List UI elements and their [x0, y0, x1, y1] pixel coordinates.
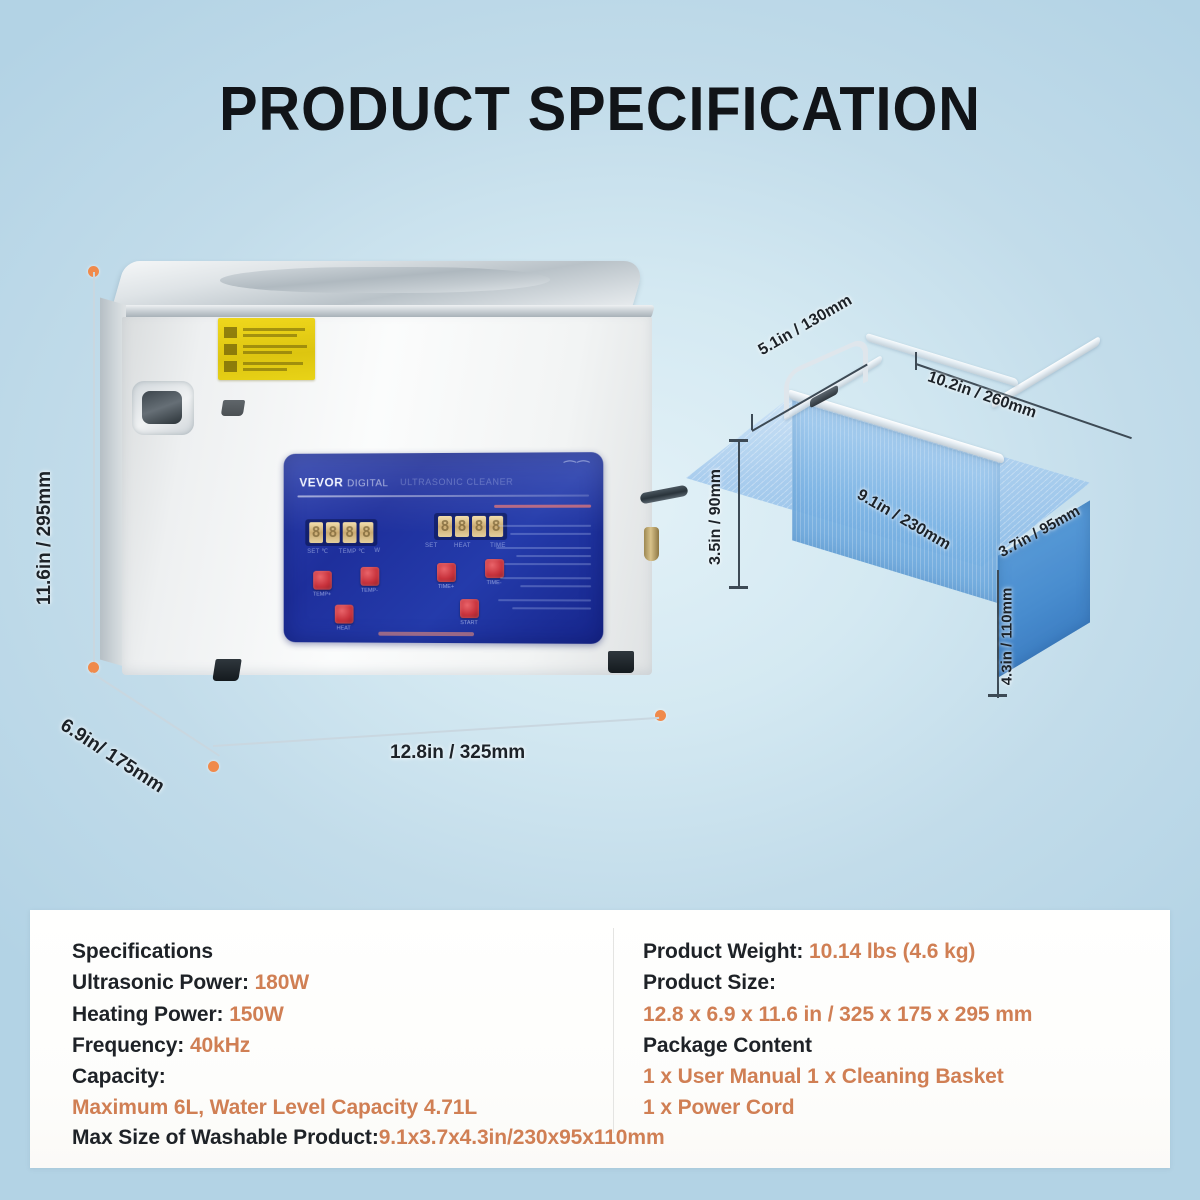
led-caption: TEMP ℃ [339, 548, 365, 555]
led-caption: W [374, 548, 380, 554]
spec-row-ultrasonic-power: Ultrasonic Power: 180W [72, 967, 602, 998]
dimension-cap [729, 439, 748, 442]
specs-left-column: Specifications Ultrasonic Power: 180W He… [72, 936, 602, 1124]
spec-row-product-weight: Product Weight: 10.14 lbs (4.6 kg) [643, 936, 1163, 967]
spec-label: Heating Power: [72, 1003, 223, 1026]
spec-product-size-detail: 12.8 x 6.9 x 11.6 in / 325 x 175 x 295 m… [643, 999, 1163, 1030]
led-digit: 8 [455, 516, 469, 537]
spec-row-frequency: Frequency: 40kHz [72, 1030, 602, 1061]
time-up-button[interactable] [437, 563, 456, 582]
led-caption: SET [425, 543, 438, 549]
cleaner-foot [608, 651, 634, 673]
cleaner-side-handle [132, 381, 194, 435]
button-label: TEMP+ [305, 592, 338, 598]
temperature-display: 8 8 8 8 [305, 519, 377, 546]
brand-tagline: ULTRASONIC CLEANER [400, 477, 513, 487]
spec-label: Capacity: [72, 1065, 166, 1088]
warning-text-line [243, 345, 307, 348]
button-label: TIME+ [429, 584, 463, 590]
spec-value: 150W [229, 1003, 283, 1026]
dimension-marker [88, 662, 99, 673]
warning-manual-icon [224, 361, 237, 372]
spec-row-heating-power: Heating Power: 150W [72, 999, 602, 1030]
spec-value: 40kHz [190, 1034, 250, 1057]
cleaner-foot [221, 400, 246, 416]
panel-notice-line [498, 525, 591, 527]
package-content-heading: Package Content [643, 1030, 1163, 1061]
drain-spout [644, 527, 659, 561]
warning-text-line [243, 351, 292, 354]
warning-text-line [243, 362, 303, 365]
spec-capacity-detail: Maximum 6L, Water Level Capacity 4.71L [72, 1092, 602, 1123]
specs-right-column: Product Weight: 10.14 lbs (4.6 kg) Produ… [643, 936, 1163, 1124]
warning-triangle-icon [224, 327, 237, 338]
panel-notice-line [498, 599, 591, 601]
panel-notice-line [512, 607, 591, 609]
package-items-line-2: 1 x Power Cord [643, 1092, 1163, 1123]
start-button[interactable] [460, 599, 479, 618]
button-label: TEMP- [353, 588, 387, 594]
handle-slot [142, 391, 182, 424]
button-label: TIME- [477, 580, 511, 586]
led-digit: 8 [360, 522, 374, 543]
dimension-marker [208, 761, 219, 772]
specs-column-divider [613, 928, 614, 1133]
spec-label: Ultrasonic Power: [72, 971, 249, 994]
cleaner-depth-label: 6.9in/ 175mm [56, 715, 168, 798]
brand-name: VEVOR [299, 475, 343, 489]
control-panel[interactable]: VEVORDIGITAL ULTRASONIC CLEANER ⁀⁀ 8 8 8… [284, 452, 604, 644]
timer-display: 8 8 8 8 [434, 513, 507, 540]
specs-heading: Specifications [72, 936, 602, 967]
spec-label: Product Size: [643, 971, 776, 994]
panel-notice-line [510, 533, 591, 535]
basket-outer-height-label: 4.3in / 110mm [998, 588, 1015, 686]
panel-notice-line [500, 577, 591, 579]
panel-notice-line [504, 563, 591, 565]
ultrasonic-cleaner-illustration: VEVORDIGITAL ULTRASONIC CLEANER ⁀⁀ 8 8 8… [100, 255, 680, 725]
led-digit: 8 [309, 522, 323, 543]
brand-logo: VEVORDIGITAL [299, 475, 388, 489]
spec-label: Max Size of Washable Product: [72, 1126, 379, 1149]
dimension-cap [915, 352, 917, 370]
led-digit: 8 [472, 516, 486, 537]
dimension-cap [988, 694, 1007, 697]
cleaner-height-label: 11.6in / 295mm [34, 471, 56, 605]
panel-notice-heading [494, 505, 591, 508]
spec-value: 10.14 lbs (4.6 kg) [809, 940, 975, 963]
warning-shock-icon [224, 344, 237, 355]
button-label: START [452, 620, 486, 626]
page-title: PRODUCT SPECIFICATION [42, 74, 1158, 145]
spec-label: Product Weight: [643, 940, 803, 963]
product-specification-page: PRODUCT SPECIFICATION VEVORDIGITAL [0, 0, 1200, 1200]
dimension-cap [751, 414, 753, 430]
panel-notice-line [516, 555, 591, 557]
panel-notice-line [496, 547, 591, 549]
spec-row-capacity: Capacity: [72, 1061, 602, 1092]
led-digit: 8 [343, 522, 357, 543]
led-caption: HEAT [454, 543, 471, 549]
led-caption: SET ℃ [307, 548, 328, 555]
spec-value: 180W [255, 971, 309, 994]
panel-footer-strip [378, 632, 474, 636]
cleaner-width-label: 12.8in / 325mm [390, 742, 525, 764]
wave-icon: ⁀⁀ [564, 460, 591, 477]
spec-label: Frequency: [72, 1034, 184, 1057]
led-digit: 8 [326, 522, 340, 543]
package-items-line-1: 1 x User Manual 1 x Cleaning Basket [643, 1061, 1163, 1092]
dimension-cap [729, 586, 748, 589]
time-down-button[interactable] [485, 559, 504, 578]
button-label: HEAT [327, 625, 361, 631]
warning-text-line [243, 368, 287, 371]
warning-text-line [243, 334, 297, 337]
spec-row-max-washable-size: Max Size of Washable Product:9.1x3.7x4.3… [72, 1126, 665, 1150]
cleaner-lid-recess [216, 267, 553, 293]
basket-inner-height-label: 3.5in / 90mm [707, 469, 725, 565]
cleaner-foot [212, 659, 241, 681]
spec-row-product-size: Product Size: [643, 967, 1163, 998]
dimension-marker [655, 710, 666, 721]
warning-label [218, 318, 315, 380]
spec-value: 9.1x3.7x4.3in/230x95x110mm [379, 1126, 665, 1149]
specifications-panel: Specifications Ultrasonic Power: 180W He… [30, 910, 1170, 1168]
warning-text-line [243, 328, 305, 331]
basket-inner-height-line [738, 440, 740, 588]
temp-up-button[interactable] [313, 571, 332, 590]
led-digit: 8 [438, 516, 452, 537]
brand-sub: DIGITAL [347, 478, 388, 489]
panel-notice-line [520, 585, 591, 587]
height-dimension-line [93, 272, 95, 662]
heat-button[interactable] [335, 605, 354, 624]
temp-down-button[interactable] [361, 567, 380, 586]
